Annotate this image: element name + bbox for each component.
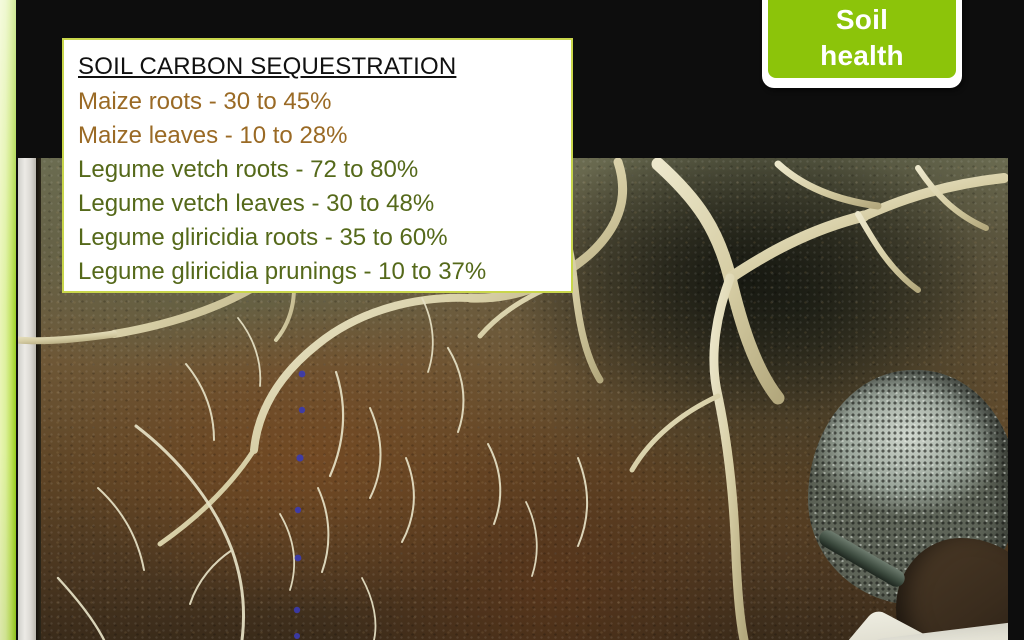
badge-line-1: Soil xyxy=(836,2,888,38)
slide-canvas: Soil health SOIL CARBON SEQUESTRATION Ma… xyxy=(0,0,1024,640)
right-black-band xyxy=(1008,0,1024,640)
soil-health-badge[interactable]: Soil health xyxy=(768,0,956,78)
callout-line-vetch-leaves: Legume vetch leaves - 30 to 48% xyxy=(78,187,557,221)
pit-wall-edge-strip xyxy=(18,158,36,640)
callout-line-gliricidia-prunings: Legume gliricidia prunings - 10 to 37% xyxy=(78,255,557,289)
soil-carbon-callout: SOIL CARBON SEQUESTRATION Maize roots - … xyxy=(62,38,573,293)
left-green-accent-band xyxy=(0,0,16,640)
callout-line-gliricidia-roots: Legume gliricidia roots - 35 to 60% xyxy=(78,221,557,255)
callout-line-maize-leaves: Maize leaves - 10 to 28% xyxy=(78,119,557,153)
badge-line-2: health xyxy=(820,38,904,74)
callout-line-vetch-roots: Legume vetch roots - 72 to 80% xyxy=(78,153,557,187)
callout-title: SOIL CARBON SEQUESTRATION xyxy=(78,52,557,82)
callout-line-maize-roots: Maize roots - 30 to 45% xyxy=(78,85,557,119)
